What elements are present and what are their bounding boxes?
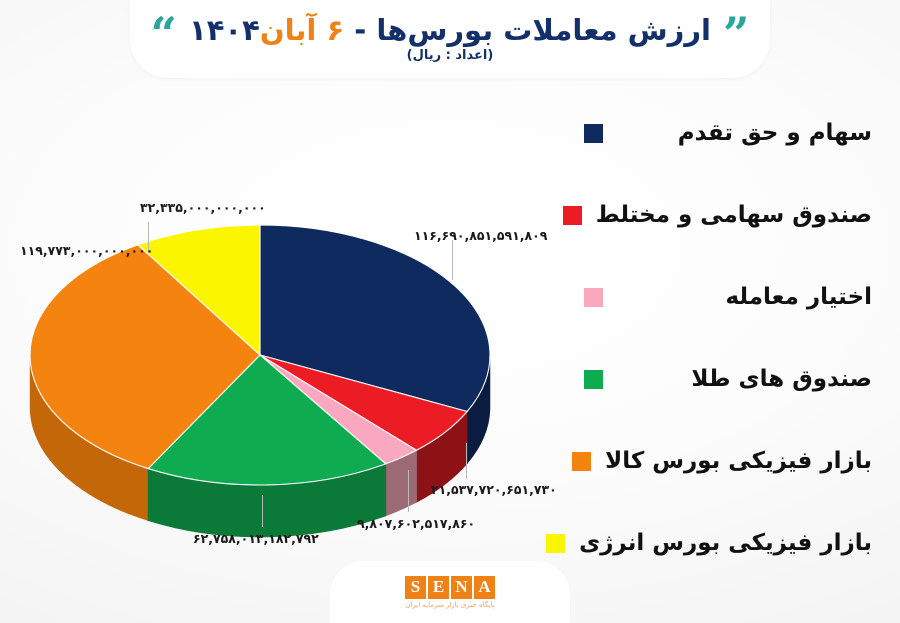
data-label-3: ۶۲,۷۵۸,۰۱۳,۱۸۲,۷۹۲ <box>193 531 319 546</box>
leader-line-1 <box>466 443 467 479</box>
page-title-date: ۶ آبان <box>260 13 344 47</box>
pie-chart <box>0 150 560 570</box>
chart-title-row: ” ارزش معاملات بورس‌ها - ۶ آبان۱۴۰۴ “ <box>130 6 770 54</box>
leader-line-0 <box>452 240 453 280</box>
quote-open-icon: “ <box>151 20 177 48</box>
quote-close-icon: ” <box>723 20 749 48</box>
legend-swatch-icon-2 <box>584 288 603 307</box>
legend-label-2: اختیار معامله <box>725 284 872 310</box>
legend-swatch-icon-1 <box>563 206 582 225</box>
legend-label-4: بازار فیزیکی بورس کالا <box>605 448 872 474</box>
page-title-main: ارزش معاملات بورس‌ها - <box>354 13 711 47</box>
legend-label-5: بازار فیزیکی بورس انرژی <box>579 530 872 556</box>
legend-swatch-icon-4 <box>572 452 591 471</box>
data-label-0: ۱۱۶,۶۹۰,۸۵۱,۵۹۱,۸۰۹ <box>414 228 547 243</box>
data-label-2: ۹,۸۰۷,۶۰۲,۵۱۷,۸۶۰ <box>357 516 475 531</box>
logo-letter-3: A <box>474 576 495 599</box>
logo-tagline: پایگاه خبری بازار سرمایه ایران <box>405 601 494 609</box>
footer-logo: S E N A پایگاه خبری بازار سرمایه ایران <box>330 561 570 623</box>
logo-letter-2: N <box>451 576 472 599</box>
pie-chart-svg <box>0 150 560 570</box>
page-title: ارزش معاملات بورس‌ها - ۶ آبان۱۴۰۴ <box>189 13 711 47</box>
legend-swatch-icon-3 <box>584 370 603 389</box>
data-label-5: ۳۲,۳۳۵,۰۰۰,۰۰۰,۰۰۰ <box>140 200 266 215</box>
legend-item-1[interactable]: صندوق سهامی و مختلط <box>584 174 884 256</box>
chart-legend: سهام و حق تقدم صندوق سهامی و مختلط اختیا… <box>584 92 884 584</box>
legend-label-1: صندوق سهامی و مختلط <box>596 202 872 228</box>
data-label-1: ۲۱,۵۳۷,۷۲۰,۶۵۱,۷۳۰ <box>431 482 557 497</box>
sena-logo: S E N A <box>405 576 495 599</box>
legend-label-0: سهام و حق تقدم <box>678 120 872 146</box>
logo-letter-1: E <box>428 576 449 599</box>
legend-item-3[interactable]: صندوق های طلا <box>584 338 884 420</box>
legend-swatch-icon-0 <box>584 124 603 143</box>
legend-item-2[interactable]: اختیار معامله <box>584 256 884 338</box>
logo-letter-0: S <box>405 576 426 599</box>
legend-item-4[interactable]: بازار فیزیکی بورس کالا <box>584 420 884 502</box>
leader-line-2 <box>408 470 409 512</box>
infographic-root: ” ارزش معاملات بورس‌ها - ۶ آبان۱۴۰۴ “ (ا… <box>0 0 900 623</box>
legend-item-5[interactable]: بازار فیزیکی بورس انرژی <box>584 502 884 584</box>
page-title-year: ۱۴۰۴ <box>189 13 260 47</box>
page-subtitle: (اعداد : ریال) <box>130 48 770 63</box>
data-label-4: ۱۱۹,۷۷۳,۰۰۰,۰۰۰,۰۰۰ <box>20 243 153 258</box>
legend-label-3: صندوق های طلا <box>691 366 872 392</box>
legend-item-0[interactable]: سهام و حق تقدم <box>584 92 884 174</box>
leader-line-3 <box>262 495 263 527</box>
